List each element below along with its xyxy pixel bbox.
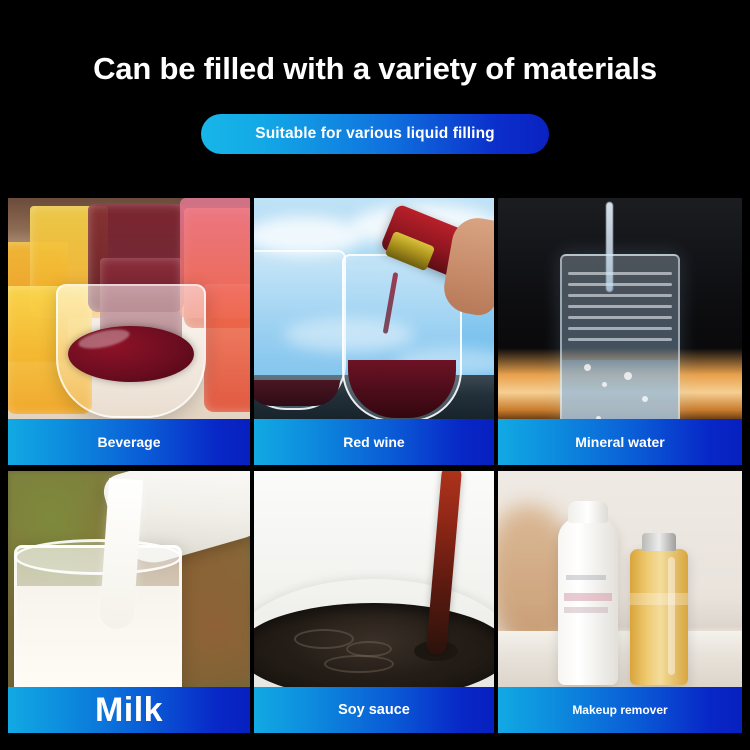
card-caption: Beverage (8, 419, 250, 465)
card-caption: Makeup remover (498, 687, 742, 733)
material-card-soy-sauce[interactable]: Soy sauce (254, 471, 494, 733)
card-caption: Red wine (254, 419, 494, 465)
card-caption: Mineral water (498, 419, 742, 465)
material-card-milk[interactable]: Milk (8, 471, 250, 733)
subtitle-pill-wrapper: Suitable for various liquid filling (0, 114, 750, 154)
red-wine-photo (254, 198, 494, 419)
material-card-makeup-remover[interactable]: Makeup remover (498, 471, 742, 733)
material-card-beverage[interactable]: Beverage (8, 198, 250, 465)
material-card-red-wine[interactable]: Red wine (254, 198, 494, 465)
material-card-grid: Beverage Red wine (8, 198, 742, 733)
material-card-mineral-water[interactable]: Mineral water (498, 198, 742, 465)
subtitle-pill: Suitable for various liquid filling (201, 114, 549, 154)
makeup-remover-photo (498, 471, 742, 687)
page-title: Can be filled with a variety of material… (0, 0, 750, 86)
card-caption: Soy sauce (254, 687, 494, 733)
mineral-water-photo (498, 198, 742, 419)
beverage-photo (8, 198, 250, 419)
soy-sauce-photo (254, 471, 494, 687)
card-caption: Milk (8, 687, 250, 733)
milk-photo (8, 471, 250, 687)
promo-page: Can be filled with a variety of material… (0, 0, 750, 750)
